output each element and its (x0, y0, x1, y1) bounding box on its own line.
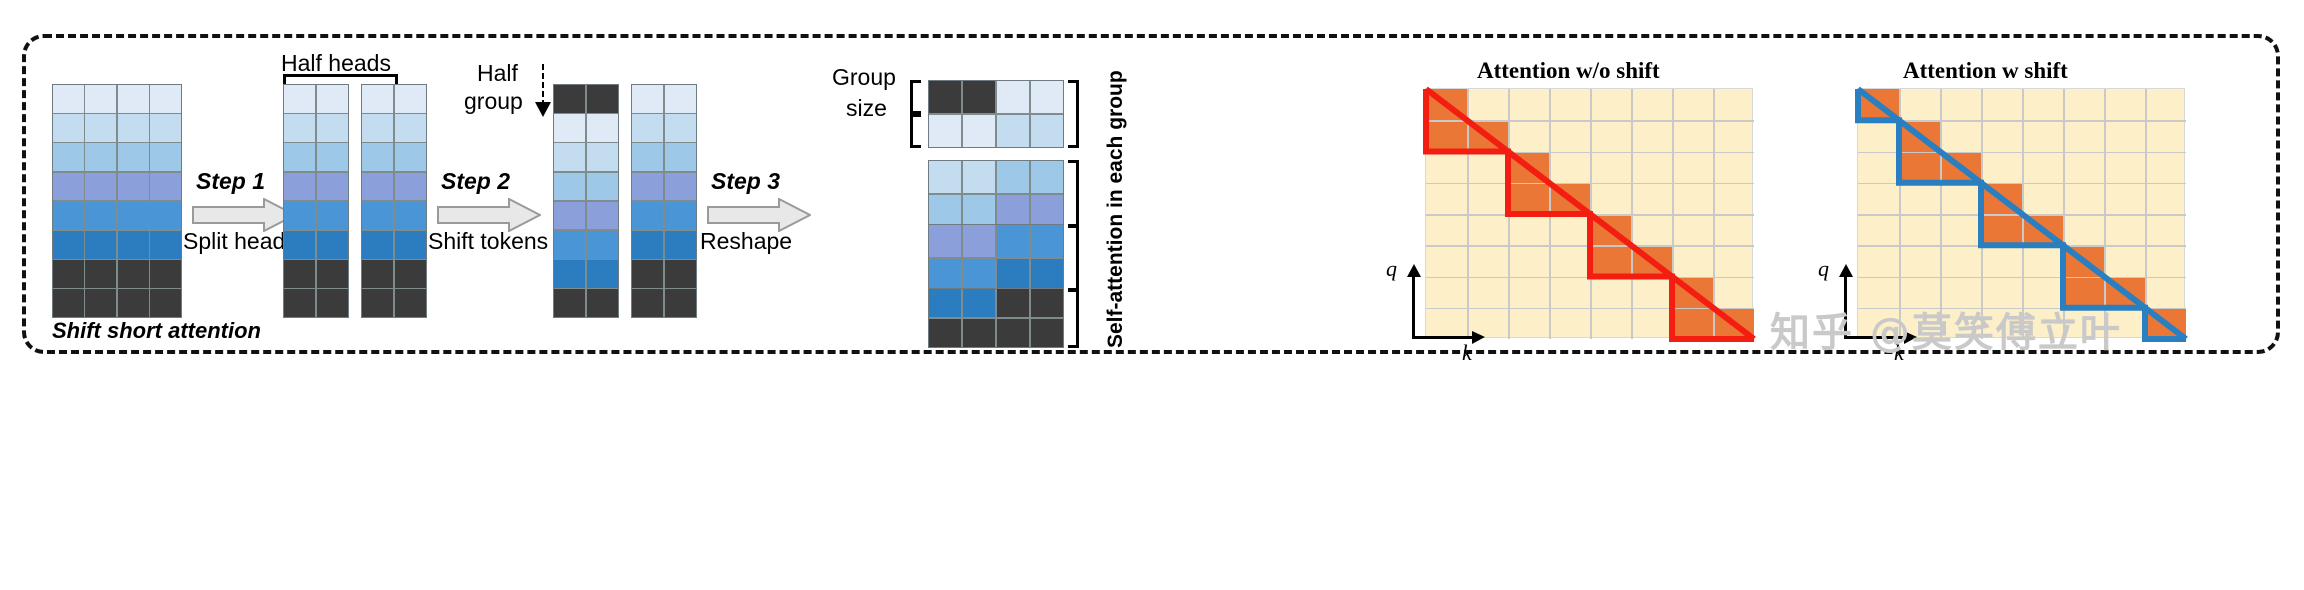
tensor-shift-right-cell (665, 231, 696, 259)
tensor-shift-left (553, 84, 619, 318)
tensor-shift-left-cell (587, 85, 618, 113)
tensor-split-right-cell (362, 143, 393, 171)
reshape-cell (1031, 115, 1063, 147)
tensor-shift-right-cell (632, 173, 663, 201)
reshape-cell (963, 81, 995, 113)
tensor-split-right-cell (395, 260, 426, 288)
attention-left-ylabel: q (1386, 256, 1397, 282)
tensor-split-right (361, 84, 427, 318)
tensor-original-cell (118, 260, 149, 288)
reshape-cell (929, 195, 961, 227)
attention-diagonal (1426, 89, 1754, 339)
attention-left-yaxis-arrowhead (1406, 264, 1422, 278)
attention-outline (1426, 89, 1754, 339)
tensor-shift-left-cell (554, 231, 585, 259)
tensor-original-cell (118, 85, 149, 113)
reshape-cell (1031, 225, 1063, 257)
tensor-original-cell (85, 231, 116, 259)
tensor-original-cell (118, 173, 149, 201)
tensor-shift-right-cell (665, 85, 696, 113)
tensor-shift-left-cell (587, 114, 618, 142)
tensor-original-cell (53, 173, 84, 201)
tensor-original-cell (150, 260, 181, 288)
reshape-cell (929, 259, 961, 291)
attention-right-title: Attention w shift (1903, 58, 2068, 84)
reshape-bracket-1 (1068, 160, 1079, 228)
tensor-split-left-cell (317, 173, 348, 201)
step2-label: Step 2 (441, 168, 510, 195)
tensor-split-left-cell (284, 231, 315, 259)
reshape-cell (997, 289, 1029, 317)
reshape-cell (1031, 259, 1063, 291)
half-group-label-line1: Half (477, 60, 518, 87)
reshape-cell (997, 259, 1029, 291)
figure-canvas: Step 1 Split heads Half heads Step 2 Shi… (0, 0, 2304, 590)
tensor-original-cell (53, 114, 84, 142)
tensor-original-cell (118, 202, 149, 230)
tensor-split-right-cell (362, 173, 393, 201)
tensor-shift-left-cell (587, 231, 618, 259)
step1-label: Step 1 (196, 168, 265, 195)
tensor-split-right-cell (362, 85, 393, 113)
tensor-shift-left-cell (554, 173, 585, 201)
tensor-original-cell (150, 202, 181, 230)
tensor-shift-left-cell (587, 289, 618, 317)
reshape-cell (963, 289, 995, 317)
tensor-split-right-cell (362, 231, 393, 259)
half-group-arrowhead (534, 102, 552, 118)
attention-left-xaxis (1412, 336, 1474, 339)
tensor-original-cell (150, 114, 181, 142)
tensor-shift-left-cell (554, 114, 585, 142)
attention-right-yaxis-arrowhead (1838, 264, 1854, 278)
tensor-split-right-cell (395, 143, 426, 171)
attention-right-ylabel: q (1818, 256, 1829, 282)
reshape-bracket-2 (1068, 224, 1079, 292)
tensor-shift-left-cell (587, 202, 618, 230)
tensor-split-left-cell (317, 231, 348, 259)
tensor-original-cell (85, 289, 116, 317)
tensor-original-cell (150, 231, 181, 259)
reshape-cell (1031, 81, 1063, 113)
tensor-original-cell (85, 173, 116, 201)
tensor-shift-left-cell (554, 85, 585, 113)
tensor-split-left-cell (317, 260, 348, 288)
reshape-cell (929, 289, 961, 317)
reshape-block-3 (928, 288, 1064, 348)
tensor-shift-left-cell (554, 202, 585, 230)
figure-caption: Shift short attention (52, 318, 261, 344)
tensor-shift-right-cell (665, 289, 696, 317)
reshape-cell (929, 115, 961, 147)
tensor-split-left-cell (284, 143, 315, 171)
attention-left-xaxis-arrowhead (1472, 331, 1486, 345)
tensor-original-cell (53, 202, 84, 230)
watermark: 知乎 @莫笑傅立叶 (1770, 300, 2122, 358)
tensor-shift-right-cell (632, 85, 663, 113)
tensor-shift-right-cell (665, 143, 696, 171)
reshape-cell (997, 81, 1029, 113)
tensor-original-cell (53, 260, 84, 288)
reshape-cell (997, 161, 1029, 193)
tensor-split-right-cell (395, 289, 426, 317)
reshape-cell (963, 195, 995, 227)
half-group-label-line2: group (464, 88, 523, 115)
tensor-split-right-cell (395, 202, 426, 230)
reshape-cell (1031, 161, 1063, 193)
tensor-shift-left-cell (554, 289, 585, 317)
tensor-original-cell (53, 143, 84, 171)
reshape-cell (997, 319, 1029, 347)
tensor-split-left-cell (284, 85, 315, 113)
tensor-shift-right-cell (632, 202, 663, 230)
tensor-split-right-cell (362, 202, 393, 230)
reshape-cell (963, 225, 995, 257)
reshape-block-2 (928, 224, 1064, 292)
tensor-split-left-cell (317, 143, 348, 171)
tensor-split-left-cell (284, 289, 315, 317)
reshape-block-1 (928, 160, 1064, 228)
tensor-split-left-cell (284, 202, 315, 230)
tensor-original-cell (118, 231, 149, 259)
reshape-cell (997, 115, 1029, 147)
tensor-shift-right-cell (665, 114, 696, 142)
tensor-split-right-cell (362, 114, 393, 142)
tensor-split-left-cell (317, 202, 348, 230)
tensor-original-cell (150, 85, 181, 113)
reshape-block-0 (928, 80, 1064, 148)
step2-action: Shift tokens (428, 228, 548, 255)
step3-label: Step 3 (711, 168, 780, 195)
step1-arrow (192, 198, 296, 232)
group-size-label-line1: Group (832, 64, 896, 91)
half-group-dashed-line (542, 64, 544, 106)
half-heads-label: Half heads (281, 50, 391, 77)
tensor-split-right-cell (395, 231, 426, 259)
reshape-cell (963, 319, 995, 347)
tensor-split-right-cell (395, 85, 426, 113)
group-size-bracket-lower (910, 114, 921, 148)
attention-left-title: Attention w/o shift (1477, 58, 1660, 84)
group-size-bracket-upper (910, 80, 921, 114)
tensor-split-left-cell (317, 289, 348, 317)
tensor-shift-left-cell (554, 143, 585, 171)
tensor-shift-right-cell (632, 289, 663, 317)
reshape-cell (997, 225, 1029, 257)
tensor-original-cell (150, 289, 181, 317)
tensor-split-right-cell (395, 114, 426, 142)
attention-left-xlabel: k (1462, 340, 1472, 366)
tensor-shift-left-cell (554, 260, 585, 288)
tensor-original-cell (118, 114, 149, 142)
tensor-original-cell (53, 289, 84, 317)
tensor-shift-right-cell (632, 231, 663, 259)
tensor-shift-left-cell (587, 143, 618, 171)
tensor-split-left-cell (284, 260, 315, 288)
group-size-label-line2: size (846, 95, 887, 122)
tensor-split-right-cell (395, 173, 426, 201)
tensor-shift-right-cell (665, 173, 696, 201)
tensor-split-left-cell (284, 173, 315, 201)
reshape-cell (1031, 195, 1063, 227)
tensor-split-left (283, 84, 349, 318)
tensor-split-right-cell (362, 289, 393, 317)
tensor-original-cell (85, 114, 116, 142)
self-attention-caption: Self-attention in each group (1104, 70, 1128, 348)
tensor-original-cell (118, 143, 149, 171)
tensor-original-cell (53, 85, 84, 113)
tensor-original-cell (53, 231, 84, 259)
step1-action: Split heads (183, 228, 297, 255)
tensor-split-left-cell (284, 114, 315, 142)
step3-arrow (707, 198, 811, 232)
tensor-original-cell (85, 85, 116, 113)
attention-left-yaxis (1412, 276, 1415, 338)
reshape-cell (1031, 289, 1063, 317)
reshape-cell (1031, 319, 1063, 347)
step2-arrow (437, 198, 541, 232)
reshape-cell (963, 115, 995, 147)
tensor-original-cell (85, 260, 116, 288)
tensor-shift-right-cell (632, 114, 663, 142)
reshape-cell (963, 259, 995, 291)
tensor-split-right-cell (362, 260, 393, 288)
reshape-bracket-0 (1068, 80, 1079, 148)
tensor-shift-right (631, 84, 697, 318)
tensor-original (52, 84, 182, 318)
tensor-original-cell (150, 173, 181, 201)
tensor-original-cell (150, 143, 181, 171)
tensor-shift-left-cell (587, 260, 618, 288)
tensor-shift-left-cell (587, 173, 618, 201)
tensor-shift-right-cell (632, 260, 663, 288)
reshape-bracket-3 (1068, 288, 1079, 348)
reshape-cell (929, 319, 961, 347)
tensor-split-left-cell (317, 85, 348, 113)
tensor-original-cell (85, 143, 116, 171)
tensor-shift-right-cell (665, 260, 696, 288)
tensor-shift-right-cell (665, 202, 696, 230)
tensor-shift-right-cell (632, 143, 663, 171)
tensor-original-cell (85, 202, 116, 230)
reshape-cell (963, 161, 995, 193)
tensor-split-left-cell (317, 114, 348, 142)
reshape-cell (929, 161, 961, 193)
attention-matrix-no-shift (1425, 88, 1753, 338)
reshape-cell (929, 225, 961, 257)
reshape-cell (997, 195, 1029, 227)
step3-action: Reshape (700, 228, 792, 255)
tensor-original-cell (118, 289, 149, 317)
reshape-cell (929, 81, 961, 113)
